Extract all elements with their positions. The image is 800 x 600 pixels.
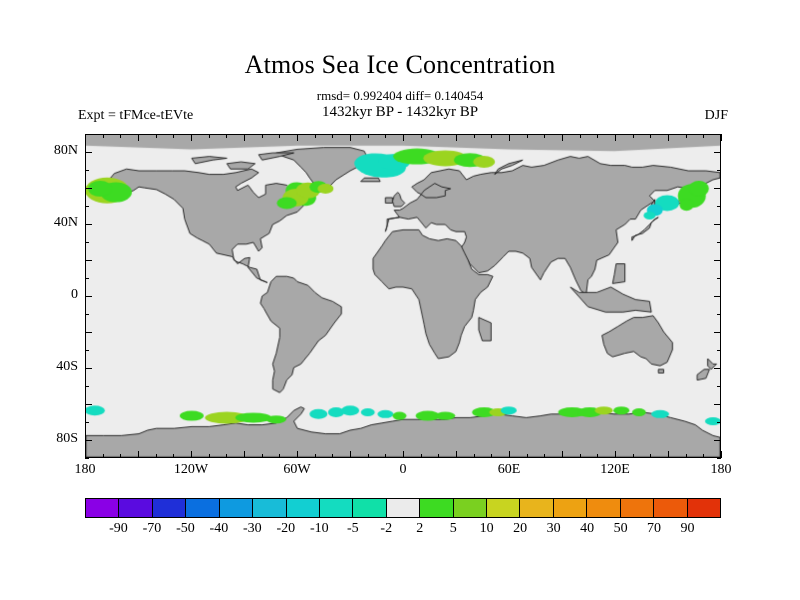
axis-tick <box>714 440 721 441</box>
axis-tick <box>717 458 721 459</box>
axis-tick <box>703 454 704 458</box>
axis-tick <box>615 451 616 458</box>
axis-tick <box>717 242 721 243</box>
colorbar-cell <box>554 499 587 517</box>
colorbar-cell <box>119 499 152 517</box>
x-axis-label: 120E <box>585 462 645 478</box>
axis-tick <box>491 454 492 458</box>
axis-tick <box>368 134 369 138</box>
axis-tick <box>721 451 722 458</box>
axis-tick <box>717 170 721 171</box>
axis-tick <box>138 451 139 458</box>
colorbar-cell <box>387 499 420 517</box>
x-axis-label: 120W <box>161 462 221 478</box>
axis-tick <box>562 451 563 458</box>
page-title: Atmos Sea Ice Concentration <box>0 50 800 80</box>
axis-tick <box>403 134 404 141</box>
x-axis-label: 180 <box>55 462 115 478</box>
axis-tick <box>279 454 280 458</box>
axis-tick <box>474 134 475 138</box>
axis-tick <box>138 134 139 141</box>
colorbar-cell <box>353 499 386 517</box>
axis-tick <box>103 454 104 458</box>
colorbar-cell <box>420 499 453 517</box>
axis-tick <box>85 350 89 351</box>
statistics-line: rmsd= 0.992404 diff= 0.140454 <box>0 88 800 104</box>
axis-tick <box>686 134 687 138</box>
axis-tick <box>633 134 634 138</box>
axis-tick <box>668 451 669 458</box>
axis-tick <box>421 454 422 458</box>
axis-tick <box>544 454 545 458</box>
axis-tick <box>717 134 721 135</box>
y-axis-label: 80S <box>30 431 78 447</box>
axis-tick <box>456 134 457 141</box>
axis-tick <box>85 440 92 441</box>
axis-tick <box>85 386 89 387</box>
axis-tick <box>438 454 439 458</box>
axis-tick <box>562 134 563 141</box>
colorbar-cell <box>520 499 553 517</box>
axis-tick <box>509 451 510 458</box>
axis-tick <box>456 451 457 458</box>
axis-tick <box>120 134 121 138</box>
colorbar-cell <box>587 499 620 517</box>
colorbar-cell <box>454 499 487 517</box>
x-axis-label: 60E <box>479 462 539 478</box>
axis-tick <box>85 170 89 171</box>
experiment-label: Expt = tFMce-tEVte <box>78 108 193 124</box>
axis-tick <box>85 296 92 297</box>
axis-tick <box>714 368 721 369</box>
axis-tick <box>714 188 721 189</box>
axis-tick <box>279 134 280 138</box>
map-plot-area <box>85 134 721 458</box>
axis-tick <box>85 332 92 333</box>
colorbar-cell <box>487 499 520 517</box>
axis-tick <box>527 454 528 458</box>
axis-tick <box>85 224 92 225</box>
axis-tick <box>714 332 721 333</box>
axis-tick <box>350 451 351 458</box>
axis-tick <box>85 152 92 153</box>
axis-tick <box>717 314 721 315</box>
axis-tick <box>717 206 721 207</box>
axis-tick <box>85 134 89 135</box>
season-label: DJF <box>705 108 728 124</box>
axis-tick <box>85 404 92 405</box>
axis-tick <box>85 188 92 189</box>
y-axis-label: 40S <box>30 359 78 375</box>
y-axis-label: 80N <box>30 143 78 159</box>
axis-tick <box>85 278 89 279</box>
axis-tick <box>714 296 721 297</box>
axis-tick <box>315 134 316 138</box>
axis-tick <box>332 134 333 138</box>
axis-tick <box>615 134 616 141</box>
y-axis-label: 0 <box>30 287 78 303</box>
axis-tick <box>580 134 581 138</box>
axis-tick <box>544 134 545 138</box>
axis-tick <box>297 134 298 141</box>
axis-tick <box>717 422 721 423</box>
axis-tick <box>262 134 263 138</box>
axis-tick <box>209 454 210 458</box>
axis-tick <box>668 134 669 141</box>
axis-tick <box>597 454 598 458</box>
axis-tick <box>368 454 369 458</box>
axis-tick <box>103 134 104 138</box>
axis-tick <box>85 314 89 315</box>
axis-tick <box>686 454 687 458</box>
axis-tick <box>262 454 263 458</box>
axis-tick <box>714 404 721 405</box>
axis-tick <box>350 134 351 141</box>
axis-tick <box>156 454 157 458</box>
axis-tick <box>509 134 510 141</box>
colorbar-tick-label: 90 <box>665 521 711 537</box>
colorbar-cell <box>320 499 353 517</box>
axis-tick <box>714 224 721 225</box>
colorbar <box>85 498 721 518</box>
axis-tick <box>717 350 721 351</box>
axis-tick <box>332 454 333 458</box>
axis-tick <box>491 134 492 138</box>
axis-tick <box>85 368 92 369</box>
axis-tick <box>85 260 92 261</box>
axis-tick <box>85 242 89 243</box>
colorbar-cell <box>153 499 186 517</box>
colorbar-cell <box>654 499 687 517</box>
axis-tick <box>421 134 422 138</box>
colorbar-cell <box>688 499 720 517</box>
axis-tick <box>226 454 227 458</box>
x-axis-label: 180 <box>691 462 751 478</box>
axis-tick <box>403 451 404 458</box>
axis-tick <box>527 134 528 138</box>
axis-tick <box>297 451 298 458</box>
axis-tick <box>633 454 634 458</box>
axis-tick <box>173 454 174 458</box>
axis-tick <box>721 134 722 141</box>
axis-tick <box>191 134 192 141</box>
x-axis-label: 60W <box>267 462 327 478</box>
axis-tick <box>244 134 245 141</box>
axis-tick <box>173 134 174 138</box>
x-axis-label: 0 <box>373 462 433 478</box>
y-axis-label: 40N <box>30 215 78 231</box>
colorbar-cell <box>186 499 219 517</box>
axis-tick <box>385 454 386 458</box>
axis-tick <box>597 134 598 138</box>
axis-tick <box>226 134 227 138</box>
axis-tick <box>703 134 704 138</box>
axis-tick <box>385 134 386 138</box>
axis-tick <box>209 134 210 138</box>
axis-tick <box>191 451 192 458</box>
colorbar-cell <box>621 499 654 517</box>
colorbar-cell <box>287 499 320 517</box>
colorbar-cell <box>253 499 286 517</box>
axis-tick <box>650 454 651 458</box>
axis-tick <box>714 260 721 261</box>
colorbar-cell <box>220 499 253 517</box>
axis-tick <box>85 451 86 458</box>
axis-tick <box>315 454 316 458</box>
axis-tick <box>85 458 89 459</box>
axis-tick <box>85 134 86 141</box>
axis-tick <box>438 134 439 138</box>
axis-tick <box>85 206 89 207</box>
axis-tick <box>120 454 121 458</box>
axis-tick <box>650 134 651 138</box>
map-canvas <box>86 135 720 457</box>
axis-tick <box>474 454 475 458</box>
axis-tick <box>85 422 89 423</box>
axis-tick <box>714 152 721 153</box>
axis-tick <box>717 386 721 387</box>
axis-tick <box>244 451 245 458</box>
axis-tick <box>717 278 721 279</box>
axis-tick <box>156 134 157 138</box>
colorbar-cell <box>86 499 119 517</box>
axis-tick <box>580 454 581 458</box>
